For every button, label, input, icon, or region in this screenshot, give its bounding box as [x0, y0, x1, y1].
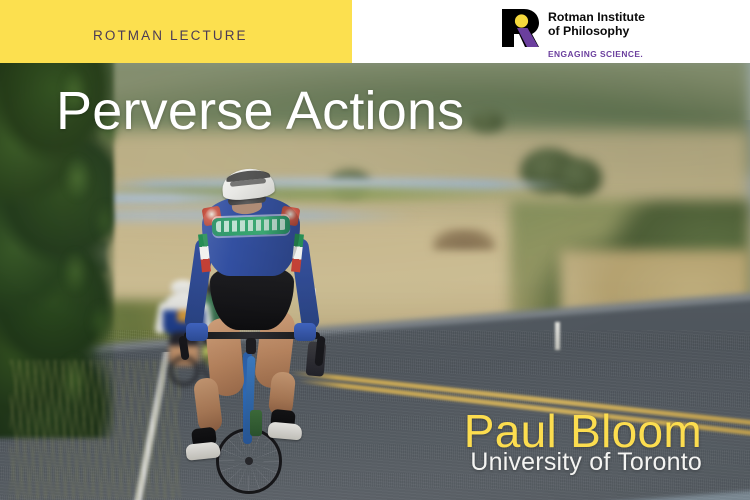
rotman-institute-logo: Rotman Institute of Philosophy ENGAGING … — [500, 7, 650, 59]
tree-clump-icon — [470, 112, 504, 132]
lecture-poster: ROTMAN LECTURE Rotman Institute of Philo… — [0, 0, 750, 500]
bicycle-stem — [246, 338, 256, 354]
cycling-shorts — [210, 268, 294, 330]
rotman-r-logo-icon — [500, 8, 542, 48]
cycling-shoe — [267, 422, 302, 441]
cycling-glove — [294, 323, 316, 341]
dirt-mound — [432, 228, 496, 250]
logo-wordmark-line2: of Philosophy — [548, 24, 629, 38]
kicker-label: ROTMAN LECTURE — [93, 28, 248, 43]
speaker-affiliation: University of Toronto — [470, 448, 702, 477]
logo-wordmark-line1: Rotman Institute — [548, 10, 645, 24]
cycling-glove — [186, 323, 208, 341]
wheel-hub — [245, 457, 253, 465]
lecture-title: Perverse Actions — [56, 80, 464, 142]
logo-wordmark: Rotman Institute of Philosophy — [548, 10, 645, 38]
logo-tagline: ENGAGING SCIENCE. — [548, 49, 643, 59]
water-bottle — [250, 410, 262, 436]
lead-cyclist — [150, 160, 350, 420]
marker-post — [555, 322, 560, 350]
poster-header: ROTMAN LECTURE Rotman Institute of Philo… — [0, 0, 750, 63]
